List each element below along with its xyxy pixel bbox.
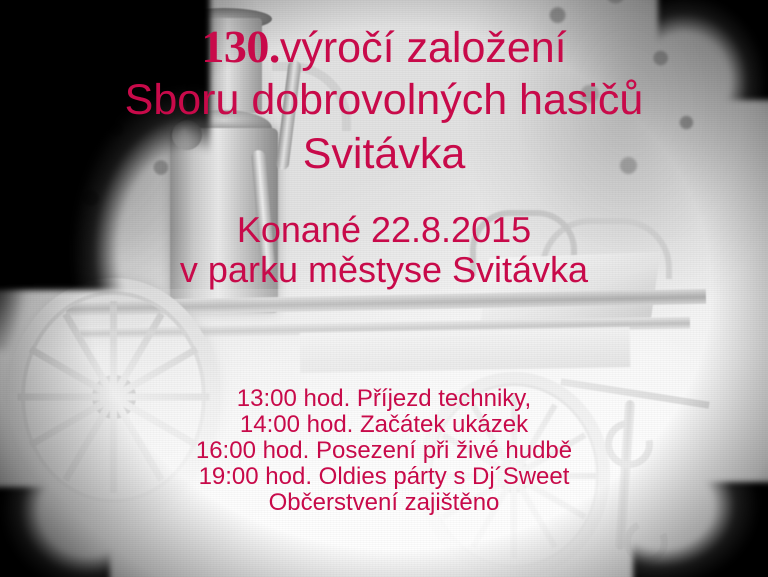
headline-line-1: 130.výročí založení xyxy=(0,24,768,70)
event-date: Konané 22.8.2015 xyxy=(0,212,768,248)
program-item: 19:00 hod. Oldies párty s Dj´Sweet xyxy=(0,464,768,490)
program-item: 13:00 hod. Příjezd techniky, xyxy=(0,386,768,412)
program-note: Občerstvení zajištěno xyxy=(0,490,768,516)
program-item: 14:00 hod. Začátek ukázek xyxy=(0,412,768,438)
headline-rest: výročí založení xyxy=(280,24,567,72)
headline-line-2: Sboru dobrovolných hasičů xyxy=(0,79,768,122)
program-item: 16:00 hod. Posezení při živé hudbě xyxy=(0,438,768,464)
event-location: v parku městyse Svitávka xyxy=(0,252,768,288)
headline-line-3: Svitávka xyxy=(0,133,768,176)
poster-canvas: 130.výročí založení Sboru dobrovolných h… xyxy=(0,0,768,577)
anniversary-number: 130. xyxy=(201,21,280,72)
